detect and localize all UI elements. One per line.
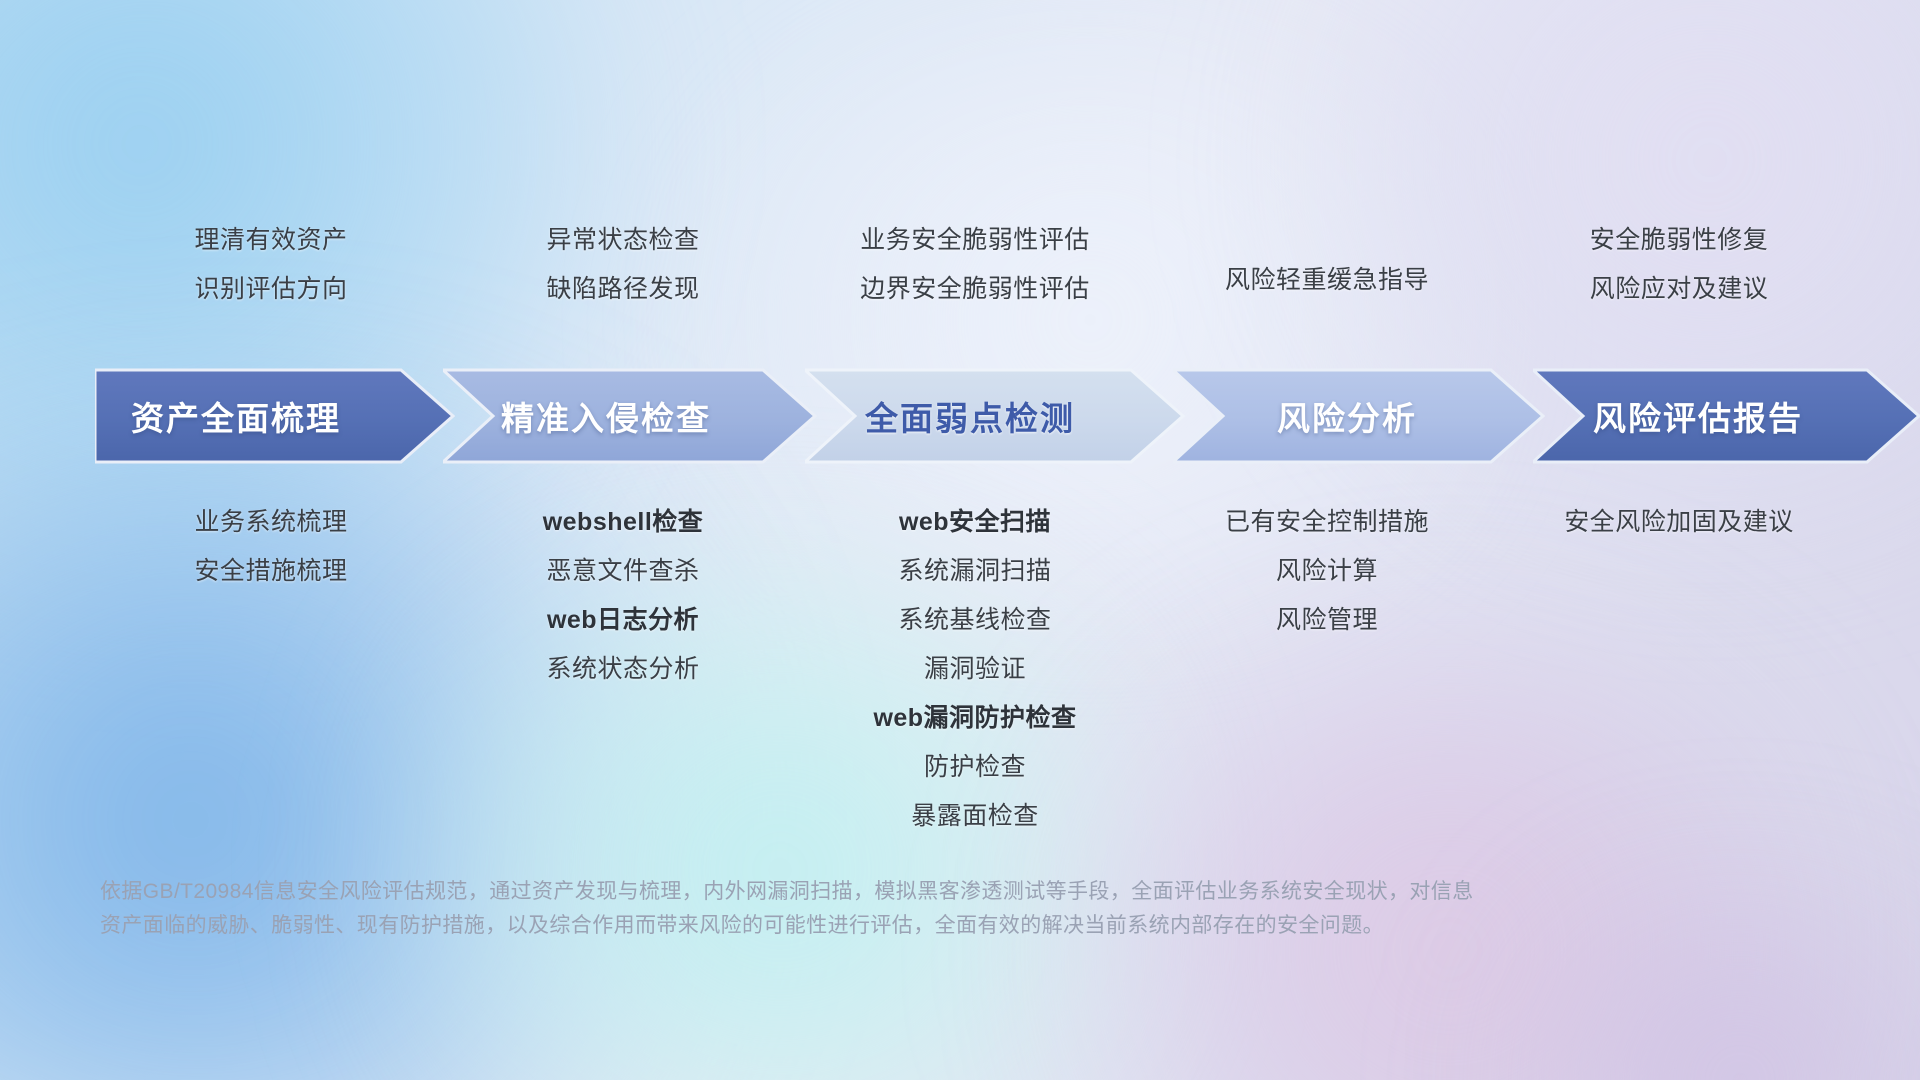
bottom-caption-group-2: webshell检查 恶意文件查杀 web日志分析 系统状态分析 [447, 510, 799, 706]
stage-arrow-label: 全面弱点检测 [865, 392, 1075, 440]
process-diagram: 理清有效资产 识别评估方向 异常状态检查 缺陷路径发现 业务安全脆弱性评估 边界… [0, 0, 1920, 1080]
bottom-caption-item: 恶意文件查杀 [546, 559, 699, 584]
footer-line-1: 依据GB/T20984信息安全风险评估规范，通过资产发现与梳理，内外网漏洞扫描，… [100, 875, 1620, 909]
bottom-captions-row: 业务系统梳理 安全措施梳理 webshell检查 恶意文件查杀 web日志分析 … [95, 510, 1855, 853]
stage-arrow-intrusion-check[interactable]: 精准入侵检查 [443, 368, 817, 464]
top-caption-group-1: 理清有效资产 识别评估方向 [95, 228, 447, 326]
stage-arrow-band: 资产全面梳理 精准入侵检查 [95, 368, 1855, 464]
bottom-caption-item: web安全扫描 [899, 510, 1051, 535]
bottom-caption-item: webshell检查 [543, 510, 704, 535]
bottom-caption-item: 防护检查 [924, 755, 1026, 780]
bottom-caption-item: 漏洞验证 [924, 657, 1026, 682]
bottom-caption-item: 安全风险加固及建议 [1564, 510, 1794, 535]
footer-description: 依据GB/T20984信息安全风险评估规范，通过资产发现与梳理，内外网漏洞扫描，… [100, 875, 1620, 943]
bottom-caption-group-5: 安全风险加固及建议 [1503, 510, 1855, 559]
bottom-caption-group-1: 业务系统梳理 安全措施梳理 [95, 510, 447, 608]
bottom-caption-item: 安全措施梳理 [194, 559, 347, 584]
top-captions-row: 理清有效资产 识别评估方向 异常状态检查 缺陷路径发现 业务安全脆弱性评估 边界… [95, 228, 1855, 326]
bottom-caption-item: 风险管理 [1276, 608, 1378, 633]
top-caption-item: 缺陷路径发现 [546, 277, 699, 302]
bottom-caption-item: 暴露面检查 [911, 804, 1039, 829]
footer-line-2: 资产面临的威胁、脆弱性、现有防护措施，以及综合作用而带来风险的可能性进行评估，全… [100, 909, 1620, 943]
top-caption-item: 风险应对及建议 [1590, 277, 1769, 302]
stage-arrow-label: 资产全面梳理 [131, 392, 341, 440]
top-caption-item: 识别评估方向 [194, 277, 347, 302]
bottom-caption-item: 已有安全控制措施 [1225, 510, 1429, 535]
top-caption-item: 安全脆弱性修复 [1590, 228, 1769, 253]
top-caption-item: 边界安全脆弱性评估 [860, 277, 1090, 302]
top-caption-item: 异常状态检查 [546, 228, 699, 253]
top-caption-group-3: 业务安全脆弱性评估 边界安全脆弱性评估 [799, 228, 1151, 326]
bottom-caption-item: 系统漏洞扫描 [898, 559, 1051, 584]
top-caption-item: 理清有效资产 [194, 228, 347, 253]
bottom-caption-item: 风险计算 [1276, 559, 1378, 584]
stage-arrow-label: 精准入侵检查 [501, 392, 711, 440]
bottom-caption-item: web漏洞防护检查 [873, 706, 1076, 731]
stage-arrow-risk-analysis[interactable]: 风险分析 [1173, 368, 1545, 464]
bottom-caption-group-4: 已有安全控制措施 风险计算 风险管理 [1151, 510, 1503, 657]
top-caption-group-2: 异常状态检查 缺陷路径发现 [447, 228, 799, 326]
stage-arrow-weakness-detection[interactable]: 全面弱点检测 [805, 368, 1185, 464]
bottom-caption-item: web日志分析 [547, 608, 699, 633]
bottom-caption-item: 业务系统梳理 [194, 510, 347, 535]
top-caption-item: 业务安全脆弱性评估 [860, 228, 1090, 253]
top-caption-item: 风险轻重缓急指导 [1225, 268, 1429, 293]
bottom-caption-item: 系统状态分析 [546, 657, 699, 682]
top-caption-group-5: 安全脆弱性修复 风险应对及建议 [1503, 228, 1855, 326]
stage-arrow-asset-inventory[interactable]: 资产全面梳理 [95, 368, 455, 464]
stage-arrow-label: 风险分析 [1277, 392, 1417, 440]
stage-arrow-risk-report[interactable]: 风险评估报告 [1533, 368, 1920, 464]
bottom-caption-item: 系统基线检查 [898, 608, 1051, 633]
bottom-caption-group-3: web安全扫描 系统漏洞扫描 系统基线检查 漏洞验证 web漏洞防护检查 防护检… [799, 510, 1151, 853]
top-caption-group-4: 风险轻重缓急指导 [1151, 228, 1503, 317]
stage-arrow-label: 风险评估报告 [1593, 392, 1803, 440]
